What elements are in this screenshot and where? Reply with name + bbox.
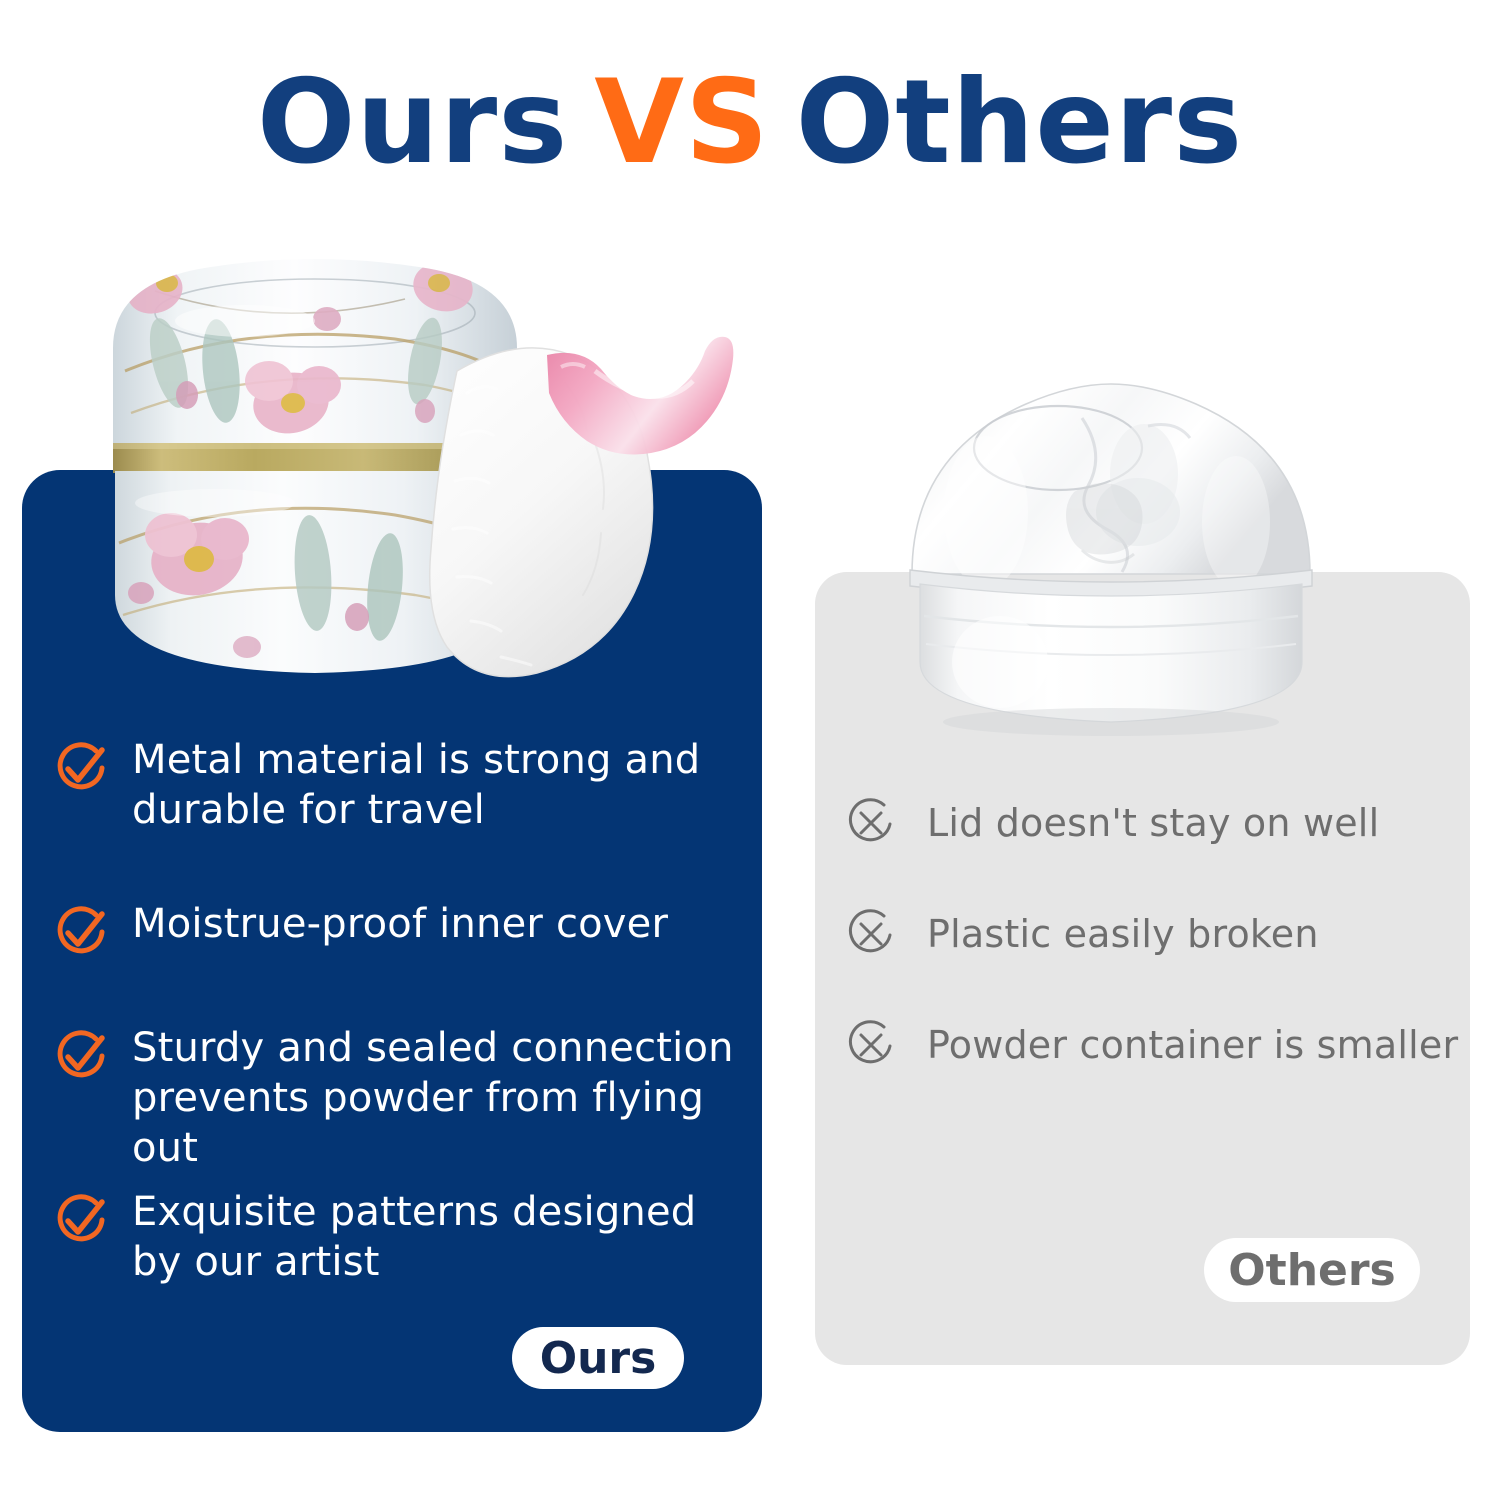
x-circle-icon (843, 1017, 899, 1073)
list-item: Plastic easily broken (843, 906, 1473, 962)
list-item: Sturdy and sealed connection prevents po… (52, 1023, 752, 1147)
drawback-text: Powder container is smaller (927, 1022, 1473, 1068)
page-title: OursVSOthers (0, 60, 1500, 185)
list-item: Lid doesn't stay on well (843, 795, 1473, 851)
title-word-others: Others (796, 55, 1244, 190)
feature-text: Moistrue-proof inner cover (132, 899, 752, 949)
others-drawback-list: Lid doesn't stay on well Plastic easily … (843, 795, 1473, 1073)
list-item: Metal material is strong and durable for… (52, 735, 752, 859)
ours-feature-list: Metal material is strong and durable for… (52, 735, 752, 1311)
check-circle-icon (52, 903, 110, 961)
feature-text: Metal material is strong and durable for… (132, 735, 752, 835)
feature-text: Sturdy and sealed connection prevents po… (132, 1023, 752, 1173)
others-badge: Others (1204, 1238, 1420, 1302)
list-item: Moistrue-proof inner cover (52, 899, 752, 983)
title-word-ours: Ours (257, 55, 568, 190)
x-circle-icon (843, 795, 899, 851)
title-word-vs: VS (594, 55, 769, 190)
list-item: Exquisite patterns designed by our artis… (52, 1187, 752, 1311)
check-circle-icon (52, 739, 110, 797)
list-item: Powder container is smaller (843, 1017, 1473, 1073)
check-circle-icon (52, 1191, 110, 1249)
feature-text: Exquisite patterns designed by our artis… (132, 1187, 752, 1287)
ours-badge: Ours (512, 1327, 684, 1389)
others-product-image (876, 362, 1346, 752)
comparison-infographic: OursVSOthers (0, 0, 1500, 1500)
drawback-text: Plastic easily broken (927, 911, 1473, 957)
ours-product-image (95, 243, 775, 703)
x-circle-icon (843, 906, 899, 962)
drawback-text: Lid doesn't stay on well (927, 800, 1473, 846)
check-circle-icon (52, 1027, 110, 1085)
